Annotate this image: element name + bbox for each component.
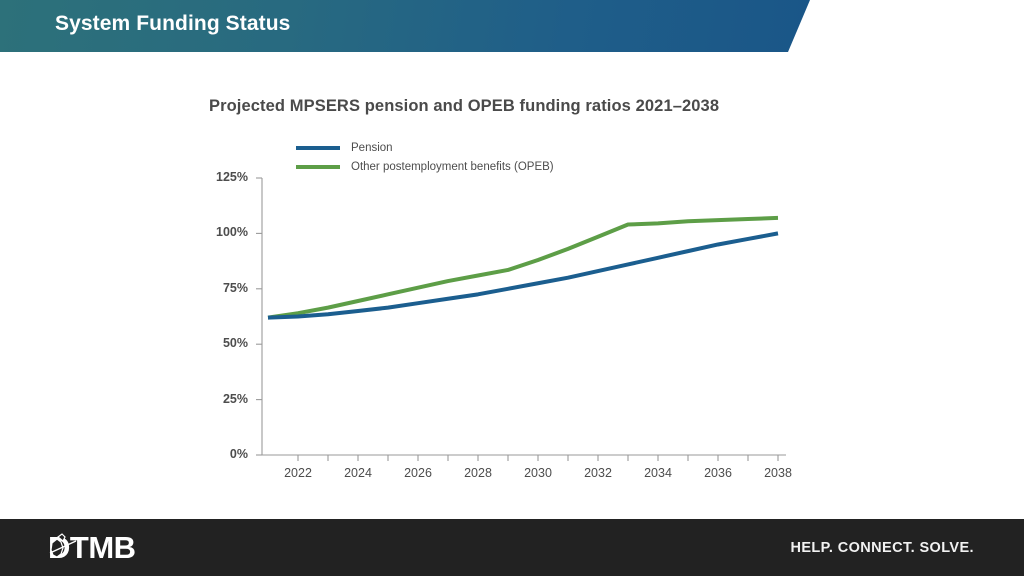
chart-plot-svg: [0, 52, 1024, 519]
y-axis-tick-label: 75%: [192, 281, 248, 295]
y-axis-tick-label: 0%: [192, 447, 248, 461]
page-title: System Funding Status: [55, 12, 290, 36]
dtmb-logo-svg: DTMB: [48, 531, 160, 565]
x-axis-tick-label: 2022: [268, 466, 328, 480]
plot-area: 0%25%50%75%100%125% 20222024202620282030…: [0, 52, 1024, 519]
dtmb-logo: DTMB: [48, 531, 160, 565]
x-axis-tick-label: 2030: [508, 466, 568, 480]
x-axis-tick-label: 2036: [688, 466, 748, 480]
footer-tagline: HELP. CONNECT. SOLVE.: [790, 540, 974, 556]
x-axis-tick-label: 2026: [388, 466, 448, 480]
x-axis-tick-label: 2034: [628, 466, 688, 480]
x-axis-tick-label: 2028: [448, 466, 508, 480]
x-axis-tick-label: 2024: [328, 466, 388, 480]
chart-container: Projected MPSERS pension and OPEB fundin…: [0, 52, 1024, 519]
series-line-opeb: [268, 218, 778, 318]
x-axis-tick-label: 2032: [568, 466, 628, 480]
y-axis-tick-label: 100%: [192, 225, 248, 239]
y-axis-tick-label: 25%: [192, 392, 248, 406]
x-axis-tick-label: 2038: [748, 466, 808, 480]
y-axis-tick-label: 50%: [192, 336, 248, 350]
y-axis-tick-label: 125%: [192, 170, 248, 184]
